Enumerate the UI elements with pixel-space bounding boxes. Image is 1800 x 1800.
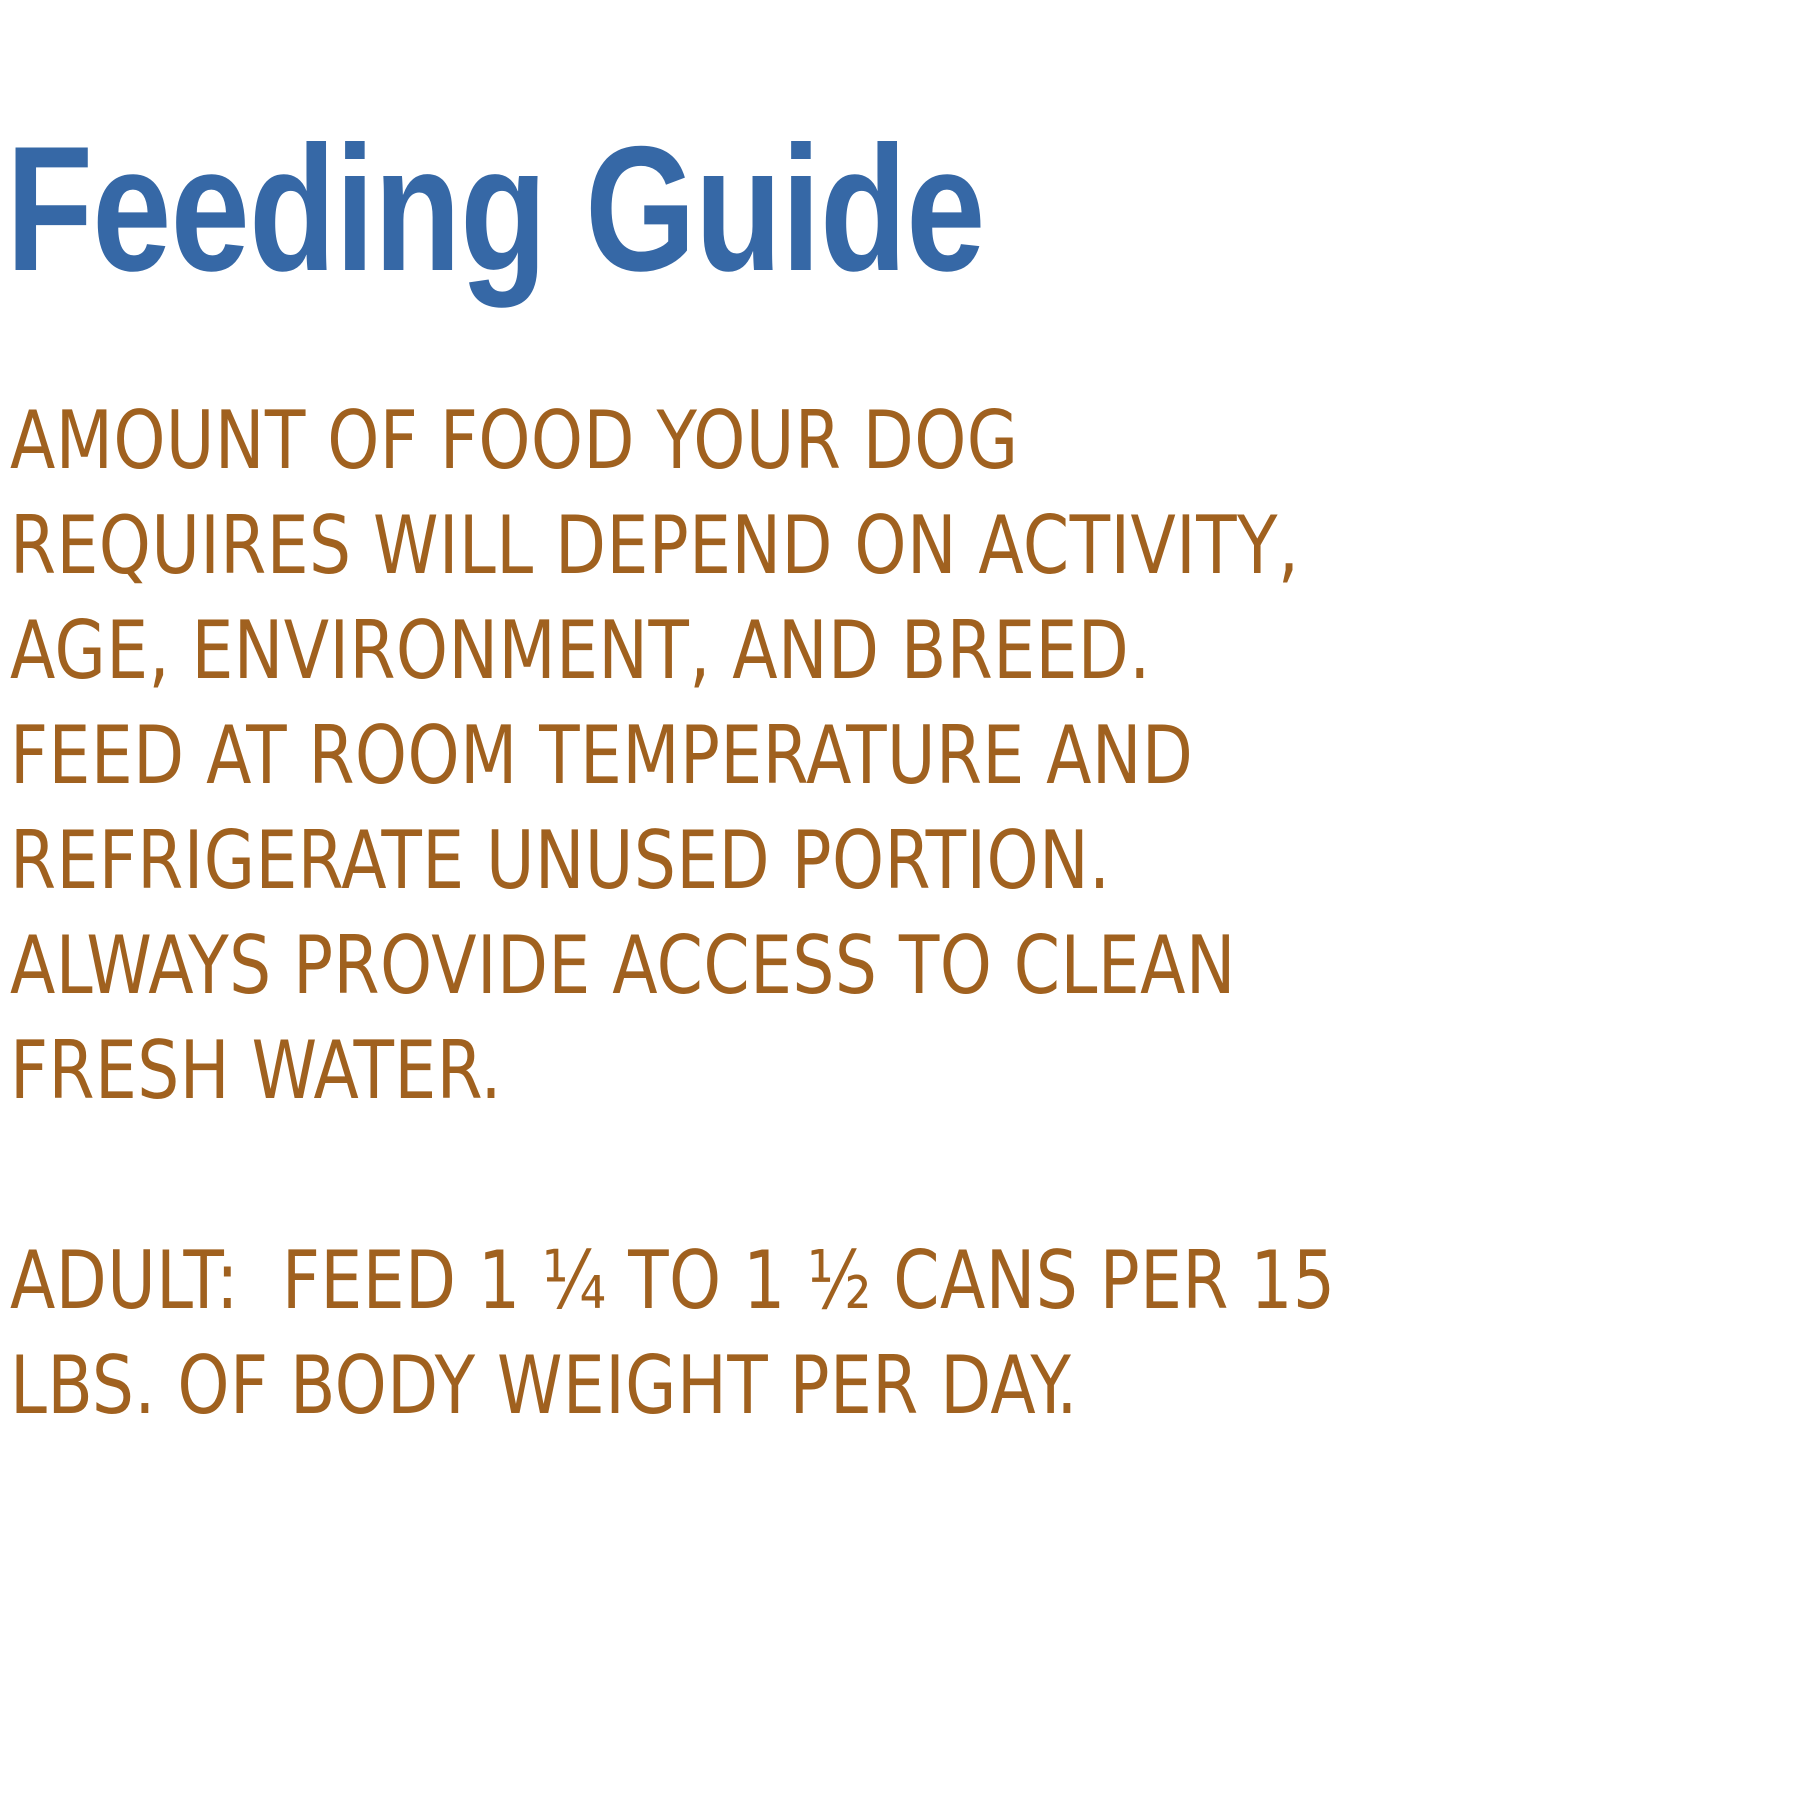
body-line: ALWAYS PROVIDE ACCESS TO CLEAN [10,913,1657,1018]
body-line: REQUIRES WILL DEPEND ON ACTIVITY, [10,493,1657,598]
paragraph-adult-feeding-amount: ADULT: FEED 1 ¼ TO 1 ½ CANS PER 15 LBS. … [10,1228,1800,1438]
body-line: REFRIGERATE UNUSED PORTION. [10,808,1657,913]
paragraph-general-instructions: AMOUNT OF FOOD YOUR DOG REQUIRES WILL DE… [10,388,1800,1123]
title-block: Feeding Guide [6,120,1756,298]
body-line: FRESH WATER. [10,1018,1657,1123]
feeding-guide-panel: Feeding Guide AMOUNT OF FOOD YOUR DOG RE… [0,0,1800,1800]
body-line: AGE, ENVIRONMENT, AND BREED. [10,598,1657,703]
body-line: LBS. OF BODY WEIGHT PER DAY. [10,1333,1657,1438]
body-line: ADULT: FEED 1 ¼ TO 1 ½ CANS PER 15 [10,1228,1657,1333]
feeding-instructions-body: AMOUNT OF FOOD YOUR DOG REQUIRES WILL DE… [10,388,1800,1438]
body-line: AMOUNT OF FOOD YOUR DOG [10,388,1657,493]
page-title: Feeding Guide [6,120,1406,298]
body-line: FEED AT ROOM TEMPERATURE AND [10,703,1657,808]
